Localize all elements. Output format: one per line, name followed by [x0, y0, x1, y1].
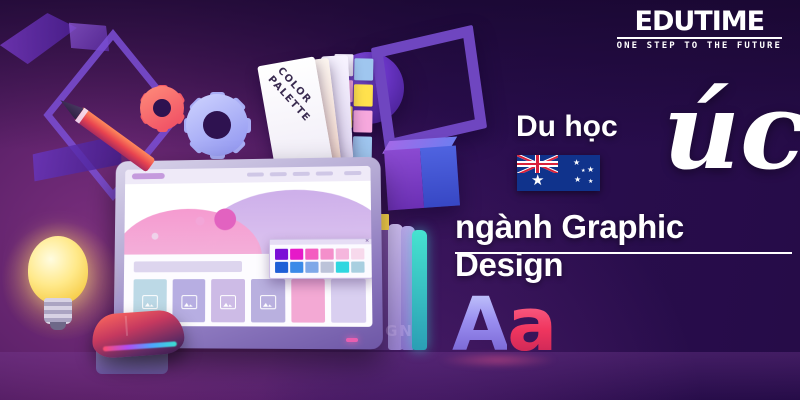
swatch — [320, 261, 334, 272]
image-icon — [181, 295, 197, 309]
app-nav-item — [316, 171, 333, 175]
content-band — [134, 261, 242, 272]
flag-cross-star: ★ — [587, 166, 594, 174]
logo-divider — [617, 37, 782, 39]
hero-circle-small — [196, 217, 205, 226]
book-spine-accent — [412, 230, 427, 350]
gear-small-icon — [140, 86, 184, 130]
app-logo-placeholder — [132, 173, 165, 179]
swatch — [305, 249, 319, 260]
swatch — [320, 248, 334, 259]
banner-canvas: COLOR PALETTE DESIGN — [0, 0, 800, 400]
swatch — [335, 248, 349, 259]
monitor-power-led — [346, 338, 358, 342]
palette-chip — [353, 110, 372, 132]
monitor-screen[interactable]: ✕ — [123, 166, 372, 327]
australian-flag-icon: ★ ★ ★ ★ ★ ★ — [517, 155, 600, 191]
app-nav-item — [344, 171, 361, 175]
swatch-grid[interactable] — [275, 248, 365, 272]
picker-title-bar[interactable] — [270, 239, 371, 245]
palette-chip — [354, 58, 373, 80]
content-card[interactable] — [331, 279, 366, 323]
palette-chip — [353, 136, 372, 158]
cube-shape — [384, 146, 460, 211]
lightbulb-tip — [50, 322, 66, 330]
flag-commonwealth-star: ★ — [531, 173, 544, 188]
flag-cross-star: ★ — [574, 176, 581, 184]
logo-wordmark: EDUTIME — [617, 8, 782, 35]
logo-edu-text: EDU — [635, 6, 695, 37]
headline-underline — [455, 252, 792, 254]
swatch — [351, 248, 365, 259]
swatch — [305, 261, 319, 272]
headline-line-2: ngành Graphic Design — [455, 208, 800, 284]
letter-a-uppercase: A — [452, 282, 507, 368]
flag-cross-star: ★ — [573, 159, 580, 167]
swatch — [290, 249, 304, 260]
swatch — [335, 261, 349, 272]
logo-time-text: TIME — [694, 6, 764, 37]
content-card[interactable] — [291, 279, 326, 323]
mouse-button-seam — [125, 316, 128, 336]
mouse-rgb-strip — [103, 341, 177, 351]
brand-logo[interactable]: EDUTIME ONE STEP TO THE FUTURE — [617, 8, 782, 51]
flag-cross-star: ★ — [581, 169, 585, 174]
flag-cross-star: ★ — [588, 179, 593, 185]
lightbulb-icon — [28, 236, 88, 304]
close-icon[interactable]: ✕ — [365, 239, 369, 244]
logo-tagline: ONE STEP TO THE FUTURE — [617, 41, 782, 51]
palette-label-text: COLOR PALETTE — [265, 65, 318, 120]
app-nav-item — [293, 172, 310, 176]
hero-circle-large — [214, 208, 236, 230]
app-nav-item — [270, 172, 287, 176]
headline-line-1: Du học — [516, 110, 618, 144]
content-card[interactable] — [172, 279, 205, 322]
palette-chip — [354, 84, 373, 106]
content-card[interactable] — [211, 279, 245, 322]
swatch — [290, 261, 304, 272]
content-card[interactable] — [251, 279, 285, 323]
headline-country: úc — [663, 78, 800, 184]
letter-a-lowercase: a — [507, 282, 555, 368]
hero-circle-tiny — [152, 233, 159, 240]
image-icon — [220, 295, 236, 309]
image-icon — [142, 295, 158, 309]
color-picker-panel[interactable]: ✕ — [269, 238, 373, 279]
swatch — [351, 261, 365, 272]
typography-letters: Aa — [452, 288, 555, 362]
cube-right-face — [420, 146, 460, 208]
image-icon — [260, 295, 276, 309]
gear-large-icon — [186, 94, 248, 156]
lightbulb-base — [44, 298, 72, 324]
swatch — [275, 249, 289, 260]
swatch — [275, 261, 289, 272]
cube-left-face — [384, 148, 424, 210]
app-nav-item — [247, 172, 264, 176]
